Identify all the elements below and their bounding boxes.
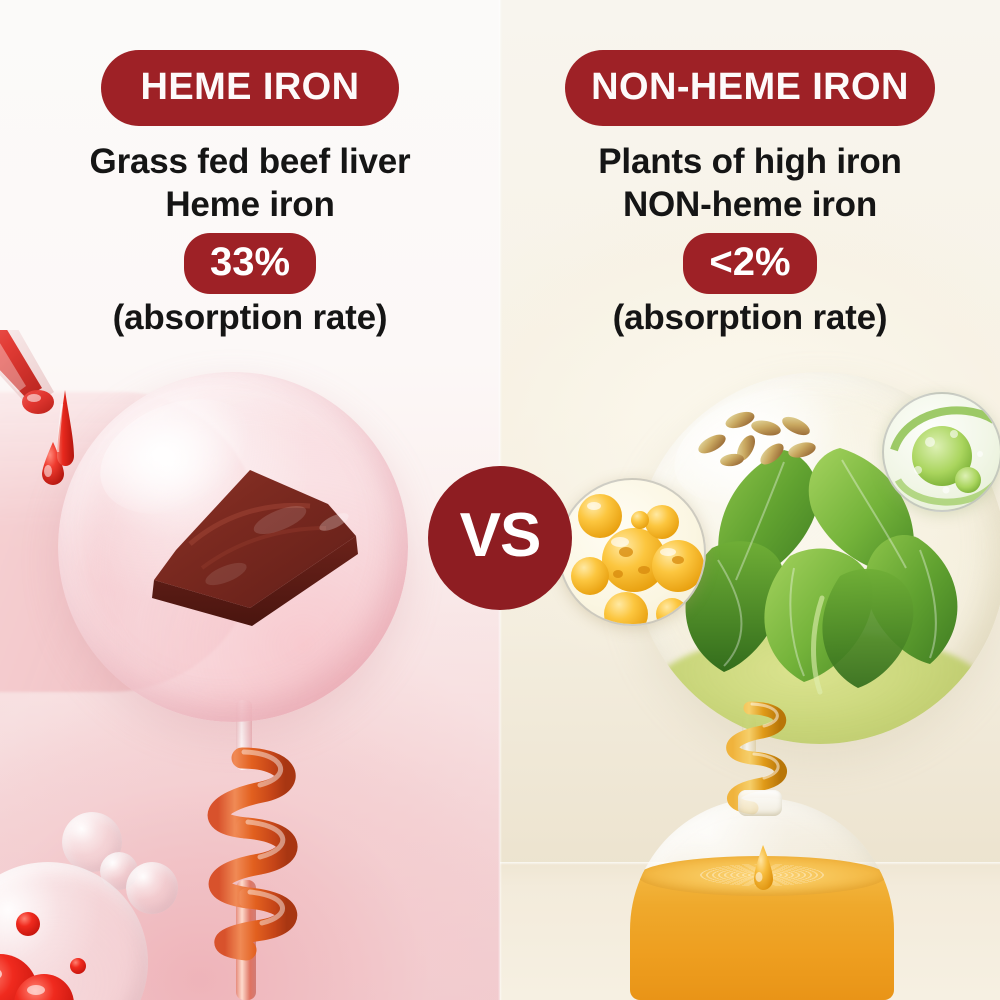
non-heme-iron-title-badge: NON-HEME IRON — [565, 50, 935, 126]
vs-label: VS — [460, 505, 541, 567]
heme-iron-title-badge: HEME IRON — [101, 50, 400, 126]
vs-badge: VS — [428, 466, 572, 610]
blood-drop-stream-icon — [52, 390, 78, 490]
heme-iron-line-2: Heme iron — [0, 185, 500, 226]
pumpkin-seeds — [688, 398, 828, 478]
green-liquid-swirl-inset — [882, 392, 1000, 512]
red-glass-spiral — [150, 740, 350, 970]
beef-liver-slice — [130, 458, 380, 633]
non-heme-iron-text-block: NON-HEME IRON Plants of high iron NON-he… — [500, 0, 1000, 338]
non-heme-iron-line-2: NON-heme iron — [500, 185, 1000, 226]
heme-iron-line-1: Grass fed beef liver — [0, 142, 500, 183]
bubble — [126, 862, 178, 914]
non-heme-iron-line-1: Plants of high iron — [500, 142, 1000, 183]
green-swirl-icon — [884, 394, 1000, 512]
non-heme-iron-percent-badge: <2% — [683, 233, 816, 294]
heme-iron-caption: (absorption rate) — [0, 298, 500, 338]
honey-drop-icon — [748, 845, 778, 897]
golden-oil-droplets-inset — [558, 478, 706, 626]
heme-iron-text-block: HEME IRON Grass fed beef liver Heme iron… — [0, 0, 500, 338]
non-heme-iron-caption: (absorption rate) — [500, 298, 1000, 338]
comparison-infographic: HEME IRON Grass fed beef liver Heme iron… — [0, 0, 1000, 1000]
heme-iron-percent-badge: 33% — [184, 233, 316, 294]
oil-droplets-icon — [560, 480, 706, 626]
dome-valve — [738, 790, 782, 816]
red-liquid-dropper-icon — [0, 330, 102, 440]
